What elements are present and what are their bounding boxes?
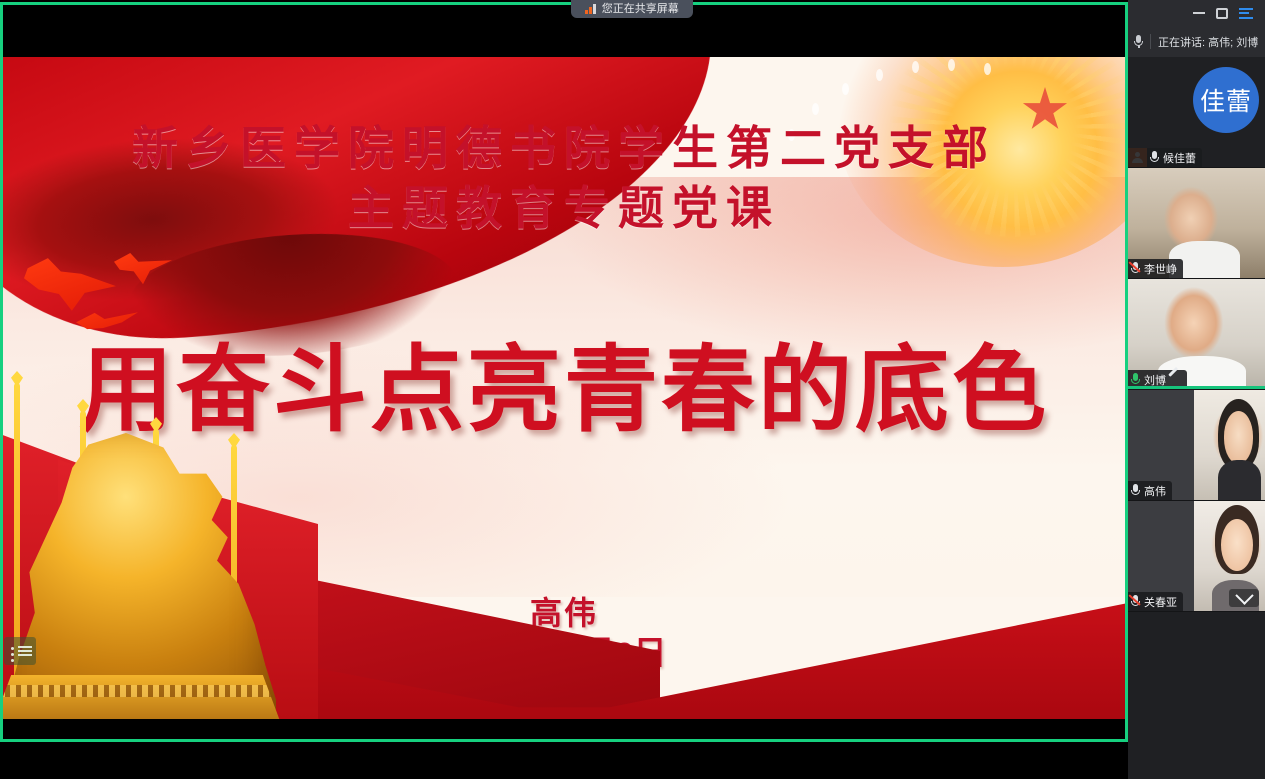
- app-window: 新乡医学院明德书院学生第二党支部 主题教育专题党课 用奋斗点亮青春的底色 高伟 …: [0, 0, 1265, 779]
- participant-panel: 正在讲话: 高伟; 刘博 佳蕾 候佳蕾 李世峥: [1128, 0, 1265, 779]
- participant-tile[interactable]: 高伟: [1128, 390, 1265, 501]
- scroll-down-button[interactable]: [1229, 589, 1259, 607]
- list-menu-icon: [11, 644, 14, 665]
- microphone-active-icon: [1131, 373, 1140, 386]
- participant-tile[interactable]: 关春亚: [1128, 501, 1265, 612]
- participant-name: 李世峥: [1144, 261, 1177, 277]
- participant-tile[interactable]: 刘博: [1128, 279, 1265, 390]
- dove-icon: [114, 253, 172, 293]
- presentation-slide: 新乡医学院明德书院学生第二党支部 主题教育专题党课 用奋斗点亮青春的底色 高伟 …: [0, 57, 1128, 719]
- menu-icon[interactable]: [1239, 8, 1253, 19]
- audio-level-indicator: [1128, 386, 1265, 389]
- participant-video: [1194, 390, 1265, 500]
- speaking-status-bar: 正在讲话: 高伟; 刘博: [1128, 26, 1265, 58]
- shared-screen-stage: 新乡医学院明德书院学生第二党支部 主题教育专题党课 用奋斗点亮青春的底色 高伟 …: [0, 0, 1128, 779]
- dove-icon: [24, 257, 116, 313]
- signal-bars-icon: [585, 4, 596, 14]
- microphone-icon: [1131, 484, 1140, 497]
- speaking-status-label: 正在讲话: 高伟; 刘博: [1158, 34, 1258, 50]
- participant-name: 关春亚: [1144, 594, 1177, 610]
- slide-subtitle: 新乡医学院明德书院学生第二党支部 主题教育专题党课: [0, 119, 1128, 239]
- sharing-banner[interactable]: 您正在共享屏幕: [571, 0, 693, 18]
- participant-tile[interactable]: 佳蕾 候佳蕾: [1128, 57, 1265, 168]
- participant-nametag: 关春亚: [1128, 592, 1183, 611]
- guardian-lion-pedestal: [0, 675, 280, 719]
- letterbox-bottom: [0, 739, 1128, 779]
- slide-subtitle-line-1: 新乡医学院明德书院学生第二党支部: [0, 119, 1128, 179]
- slide-menu-button[interactable]: [4, 637, 36, 665]
- sharing-banner-label: 您正在共享屏幕: [602, 4, 679, 15]
- slide-subtitle-line-2: 主题教育专题党课: [0, 179, 1128, 239]
- minimize-icon[interactable]: [1193, 12, 1205, 14]
- participant-name: 高伟: [1144, 483, 1166, 499]
- participant-nametag: 候佳蕾: [1128, 148, 1202, 167]
- edit-name-icon[interactable]: [1170, 374, 1181, 385]
- restore-icon[interactable]: [1216, 8, 1228, 19]
- dove-icon: [76, 305, 138, 333]
- microphone-muted-icon: [1131, 595, 1140, 608]
- panel-window-controls: [1128, 0, 1265, 26]
- microphone-icon: [1150, 151, 1159, 164]
- participant-nametag: 高伟: [1128, 481, 1172, 500]
- avatar: 佳蕾: [1193, 67, 1259, 133]
- participant-tile[interactable]: 李世峥: [1128, 168, 1265, 279]
- microphone-muted-icon: [1131, 262, 1140, 275]
- microphone-icon: [1134, 35, 1143, 48]
- participant-nametag: 李世峥: [1128, 259, 1183, 278]
- divider: [1150, 34, 1151, 49]
- participant-tiles[interactable]: 佳蕾 候佳蕾 李世峥 刘博: [1128, 57, 1265, 632]
- chevron-down-icon: [1235, 586, 1253, 604]
- letterbox-top: [0, 0, 1128, 57]
- participant-name: 候佳蕾: [1163, 150, 1196, 166]
